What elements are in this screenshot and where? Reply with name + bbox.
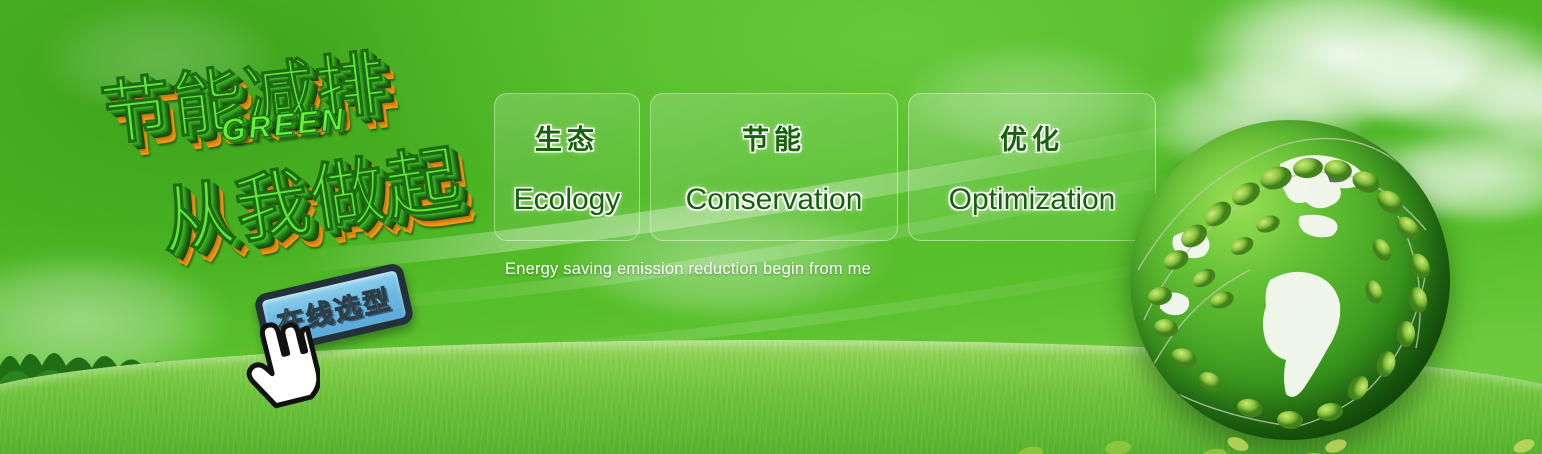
leafy-earth-globe-icon (1130, 120, 1450, 440)
tagline: Energy saving emission reduction begin f… (505, 260, 871, 279)
feature-card-cn-label: 节能 (742, 118, 806, 157)
feature-card-ecology[interactable]: 生态 Ecology (494, 93, 640, 241)
cloud-icon (1330, 10, 1542, 130)
eco-hero-banner: 节能减排 GREEN 从我做起 在线选型 生态 Ecology 节能 Conse… (0, 0, 1542, 454)
feature-card-cn-label: 生态 (535, 118, 599, 157)
feature-card-en-label: Ecology (514, 183, 621, 217)
fallen-leaves (1000, 388, 1542, 454)
feature-card-cn-label: 优化 (1000, 118, 1064, 157)
cloud-icon (1190, 0, 1490, 122)
feature-card-optimization[interactable]: 优化 Optimization (908, 93, 1156, 241)
feature-card-en-label: Conservation (686, 183, 863, 217)
feature-card-list: 生态 Ecology 节能 Conservation 优化 Optimizati… (494, 93, 1156, 241)
headline-3d: 节能减排 GREEN 从我做起 (85, 15, 506, 292)
online-selection-label: 在线选型 (273, 277, 395, 341)
cloud-icon (1460, 55, 1542, 150)
feature-card-conservation[interactable]: 节能 Conservation (650, 93, 898, 241)
feature-card-en-label: Optimization (949, 183, 1116, 217)
